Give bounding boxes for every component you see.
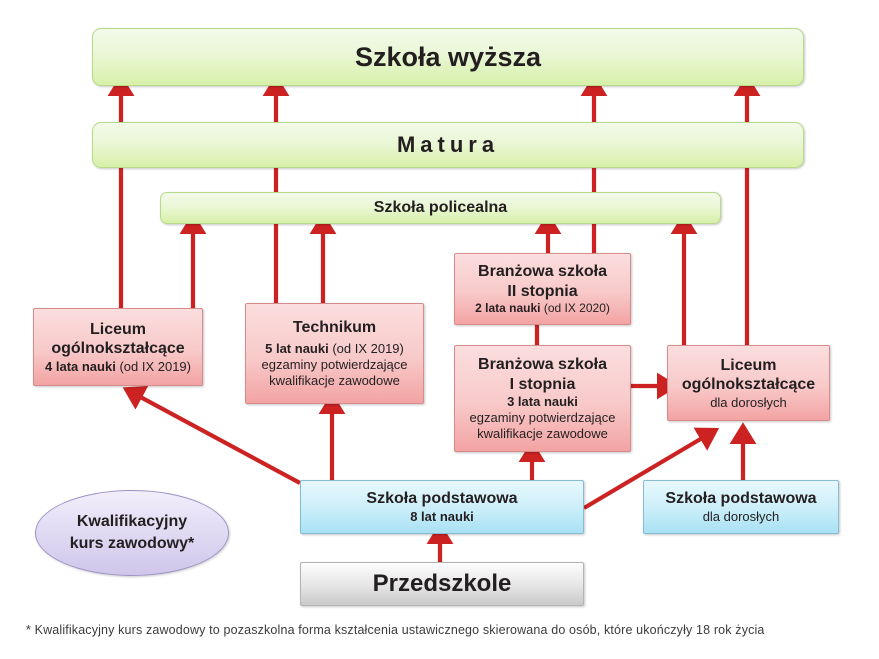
node-technikum-line2-rest: (od IX 2019) (329, 341, 404, 356)
node-liceum-dla-doroslych[interactable]: Liceum ogólnokształcące dla dorosłych (667, 345, 830, 421)
node-branzowa-ii-line2: II stopnia (507, 282, 577, 302)
node-szkola-podstawowa[interactable]: Szkoła podstawowa 8 lat nauki (300, 480, 584, 534)
node-branzowa-i-line5: kwalifikacje zawodowe (477, 426, 608, 442)
node-branzowa-szkola-ii[interactable]: Branżowa szkoła II stopnia 2 lata nauki … (454, 253, 631, 325)
node-kkz-line1: Kwalifikacyjny (77, 511, 187, 533)
node-liceum-dorosli-line2: ogólnokształcące (682, 375, 815, 395)
node-szkola-policealna-label: Szkoła policealna (374, 198, 507, 218)
node-liceum-dorosli-line3: dla dorosłych (710, 395, 787, 411)
node-branzowa-ii-line1: Branżowa szkoła (478, 262, 607, 282)
node-branzowa-ii-line3-bold: 2 lata nauki (475, 301, 540, 315)
node-przedszkole-label: Przedszkole (373, 569, 512, 598)
node-kwalifikacyjny-kurs-zawodowy[interactable]: Kwalifikacyjny kurs zawodowy* (35, 490, 229, 576)
node-branzowa-i-line4: egzaminy potwierdzające (470, 410, 616, 426)
node-technikum-line2: 5 lat nauki (od IX 2019) (265, 341, 404, 357)
node-podstawowa-dorosli-line1: Szkoła podstawowa (665, 489, 816, 509)
node-przedszkole[interactable]: Przedszkole (300, 562, 584, 606)
education-system-diagram: Szkoła wyższa Matura Szkoła policealna L… (0, 0, 879, 659)
node-liceum-line3-bold: 4 lata nauki (45, 359, 116, 374)
node-branzowa-i-line3: 3 lata nauki (507, 394, 578, 410)
node-podstawowa-line2: 8 lat nauki (410, 509, 474, 525)
node-podstawowa-dorosli-line2: dla dorosłych (703, 509, 780, 525)
node-technikum-line3: egzaminy potwierdzające (262, 357, 408, 373)
node-branzowa-szkola-i[interactable]: Branżowa szkoła I stopnia 3 lata nauki e… (454, 345, 631, 452)
node-branzowa-i-line1: Branżowa szkoła (478, 355, 607, 375)
node-technikum-line2-bold: 5 lat nauki (265, 341, 329, 356)
node-technikum[interactable]: Technikum 5 lat nauki (od IX 2019) egzam… (245, 303, 424, 404)
node-kkz-line2: kurs zawodowy* (70, 533, 194, 555)
node-szkola-wyzsza-label: Szkoła wyższa (355, 41, 541, 74)
node-technikum-line1: Technikum (293, 318, 376, 338)
node-liceum[interactable]: Liceum ogólnokształcące 4 lata nauki (od… (33, 308, 203, 386)
node-szkola-podstawowa-dla-doroslych[interactable]: Szkoła podstawowa dla dorosłych (643, 480, 839, 534)
node-technikum-line4: kwalifikacje zawodowe (269, 373, 400, 389)
node-branzowa-ii-line3-rest: (od IX 2020) (541, 301, 610, 315)
node-matura-label: Matura (397, 132, 499, 159)
node-podstawowa-line1: Szkoła podstawowa (366, 489, 517, 509)
node-liceum-line1: Liceum (90, 320, 146, 340)
node-liceum-line3: 4 lata nauki (od IX 2019) (45, 359, 191, 375)
footnote: * Kwalifikacyjny kurs zawodowy to pozasz… (26, 623, 856, 637)
node-branzowa-i-line2: I stopnia (510, 375, 576, 395)
node-branzowa-ii-line3: 2 lata nauki (od IX 2020) (475, 301, 610, 316)
node-liceum-line3-rest: (od IX 2019) (116, 359, 191, 374)
node-szkola-policealna[interactable]: Szkoła policealna (160, 192, 721, 224)
node-liceum-dorosli-line1: Liceum (720, 356, 776, 376)
node-matura[interactable]: Matura (92, 122, 804, 168)
arrow-podstawowa-to-liceum (133, 393, 300, 483)
node-liceum-line2: ogólnokształcące (51, 339, 184, 359)
node-szkola-wyzsza[interactable]: Szkoła wyższa (92, 28, 804, 86)
